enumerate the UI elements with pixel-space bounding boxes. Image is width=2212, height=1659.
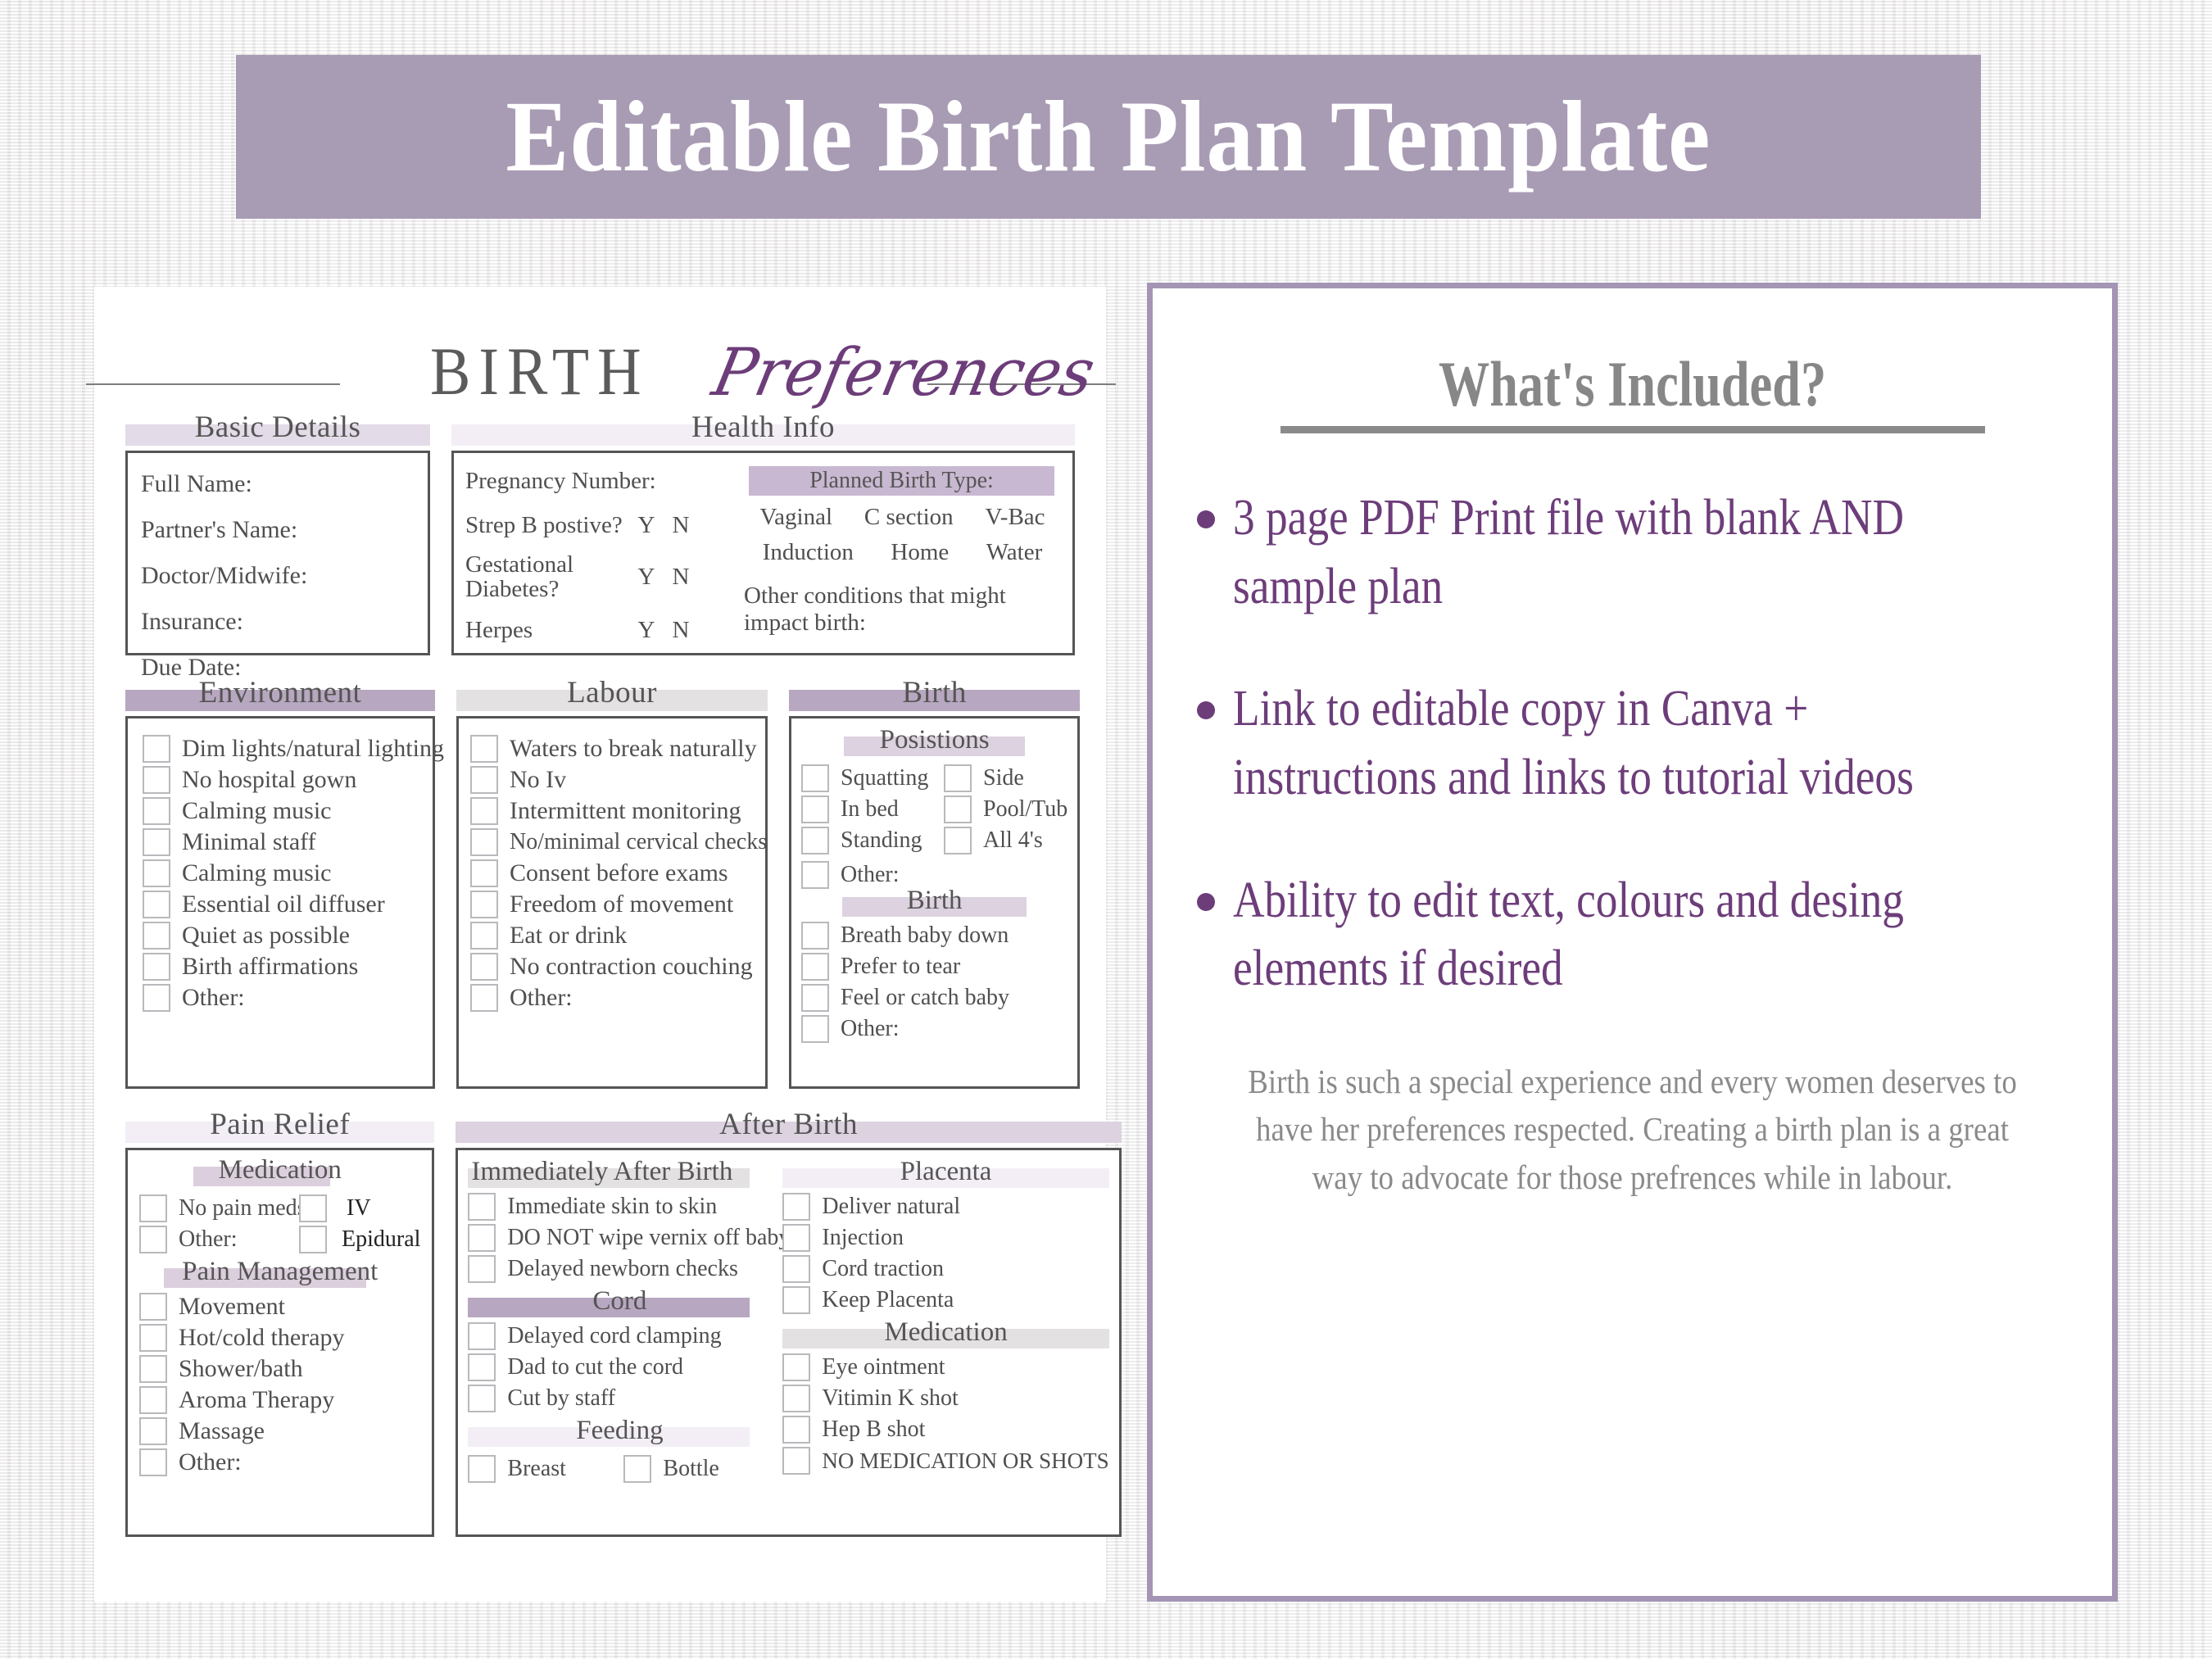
after-birth-heading: After Birth [456, 1107, 1121, 1143]
environment-heading-label: Environment [125, 675, 435, 710]
label-labour-other: Other: [510, 984, 573, 1012]
checkbox-row[interactable]: Other: [470, 984, 754, 1012]
basic-details-heading: Basic Details [125, 410, 430, 446]
pain-management-subheading: Pain Management [139, 1257, 420, 1290]
checkbox-row[interactable]: Birth affirmations [143, 953, 418, 981]
checkbox-breast[interactable] [468, 1455, 496, 1483]
herpes-label: Herpes [465, 617, 629, 644]
cord-subheading-label: Cord [468, 1286, 771, 1317]
checkbox-quiet-as-possible[interactable] [143, 922, 170, 950]
section-health-info: Health Info Pregnancy Number: Strep B po… [451, 410, 1075, 655]
checkbox-essential-oil-diffuser[interactable] [143, 891, 170, 918]
document-header: BIRTH Preferences [94, 287, 1106, 410]
herpes-yes[interactable]: Y [629, 617, 664, 644]
checkbox-row[interactable]: Bottle [623, 1455, 771, 1483]
checkbox-row[interactable]: Cord traction [782, 1255, 1108, 1283]
checkbox-prefer-to-tear[interactable] [801, 953, 829, 981]
checkbox-row[interactable]: Other: [801, 861, 1067, 889]
checkbox-cord-traction[interactable] [782, 1255, 810, 1283]
checkbox-pain-management-other[interactable] [139, 1448, 167, 1476]
label-cut-by-staff: Cut by staff [507, 1385, 615, 1412]
checkbox-feel-or-catch-baby[interactable] [801, 984, 829, 1012]
checkbox-no-minimal-cervical-checks[interactable] [470, 828, 498, 856]
whats-included-panel: What's Included? 3 page PDF Print file w… [1147, 283, 2118, 1602]
checkbox-medication-other[interactable] [139, 1226, 167, 1253]
checkbox-row[interactable]: Prefer to tear [801, 953, 1067, 981]
label-vitimin-k-shot: Vitimin K shot [822, 1385, 958, 1412]
checkbox-aroma-therapy[interactable] [139, 1386, 167, 1414]
medication-subheading-label: Medication [139, 1155, 420, 1185]
pain-relief-heading-label: Pain Relief [125, 1107, 434, 1142]
positions-subheading: Posistions [801, 725, 1067, 758]
checkbox-birth-affirmations[interactable] [143, 953, 170, 981]
checkbox-row[interactable]: Delayed newborn checks [468, 1255, 771, 1283]
gestational-diabetes-no[interactable]: N [664, 564, 698, 591]
checkbox-row[interactable]: Essential oil diffuser [143, 891, 418, 918]
checkbox-no-medication-or-shots[interactable] [782, 1447, 810, 1475]
labour-box: Waters to break naturally No Iv Intermit… [456, 716, 768, 1089]
checkbox-row[interactable]: Squatting [801, 764, 941, 792]
strep-b-label: Strep B postive? [465, 512, 629, 539]
after-birth-box: Immediately After Birth Immediate skin t… [456, 1148, 1121, 1537]
immediately-after-birth-subheading: Immediately After Birth [468, 1157, 771, 1190]
placenta-subheading-label: Placenta [782, 1157, 1108, 1187]
label-squatting: Squatting [841, 765, 928, 791]
health-info-heading: Health Info [451, 410, 1075, 446]
birth-subheading: Birth [801, 886, 1067, 918]
bullet-dot-icon [1197, 510, 1215, 528]
label-delayed-newborn-checks: Delayed newborn checks [507, 1256, 737, 1282]
checkbox-row[interactable]: Movement [139, 1293, 420, 1321]
label-calming-music-1: Calming music [182, 797, 332, 825]
checkbox-breath-baby-down[interactable] [801, 922, 829, 950]
checkbox-in-bed[interactable] [801, 796, 829, 823]
checkbox-freedom-of-movement[interactable] [470, 891, 498, 918]
section-birth: Birth Posistions Squatting In bed Standi… [789, 675, 1080, 1089]
label-keep-placenta: Keep Placenta [822, 1287, 954, 1313]
checkbox-shower-bath[interactable] [139, 1355, 167, 1383]
checkbox-standing[interactable] [801, 827, 829, 854]
list-item: Link to editable copy in Canva + instruc… [1197, 675, 2068, 812]
checkbox-labour-other[interactable] [470, 984, 498, 1012]
checkbox-row[interactable]: In bed [801, 796, 941, 823]
labour-heading: Labour [456, 675, 768, 711]
label-cord-traction: Cord traction [822, 1256, 944, 1282]
label-no-pain-meds: No pain meds [179, 1195, 306, 1222]
checkbox-delayed-cord-clamping[interactable] [468, 1322, 496, 1350]
checkbox-row[interactable]: Hot/cold therapy [139, 1324, 420, 1352]
label-no-medication-or-shots: NO MEDICATION OR SHOTS [822, 1448, 1108, 1474]
basic-details-box: Full Name: Partner's Name: Doctor/Midwif… [125, 451, 430, 655]
checkbox-row[interactable]: All 4's [944, 827, 1067, 854]
checkbox-row[interactable]: Vitimin K shot [782, 1385, 1108, 1412]
label-bottle: Bottle [663, 1456, 718, 1482]
health-info-heading-label: Health Info [451, 410, 1075, 445]
checkbox-dad-to-cut-the-cord[interactable] [468, 1353, 496, 1381]
label-birth-other: Other: [841, 1016, 900, 1042]
pain-relief-heading: Pain Relief [125, 1107, 434, 1143]
field-insurance[interactable]: Insurance: [141, 610, 415, 634]
field-partner-name[interactable]: Partner's Name: [141, 518, 415, 542]
label-immediate-skin-to-skin: Immediate skin to skin [507, 1194, 717, 1220]
checkbox-positions-other[interactable] [801, 861, 829, 889]
label-eat-or-drink: Eat or drink [510, 922, 627, 950]
page-title: Editable Birth Plan Template [506, 79, 1711, 195]
other-conditions-label[interactable]: Other conditions that might impact birth… [744, 582, 1014, 637]
birth-type-home[interactable]: Home [891, 539, 949, 566]
bullet-text-1: 3 page PDF Print file with blank AND sam… [1233, 484, 1951, 621]
birth-heading-label: Birth [789, 675, 1080, 710]
birth-type-vbac[interactable]: V-Bac [986, 504, 1045, 531]
checkbox-row[interactable]: Quiet as possible [143, 922, 418, 950]
basic-details-heading-label: Basic Details [125, 410, 430, 445]
pain-management-subheading-label: Pain Management [139, 1257, 420, 1287]
checkbox-calming-music-2[interactable] [143, 859, 170, 887]
checkbox-row[interactable]: Injection [782, 1224, 1108, 1252]
checkbox-row[interactable]: Other: [801, 1015, 1067, 1043]
checkbox-calming-music-1[interactable] [143, 797, 170, 825]
label-consent-before-exams: Consent before exams [510, 859, 728, 887]
label-birth-affirmations: Birth affirmations [182, 953, 358, 981]
label-all-4s: All 4's [983, 827, 1043, 854]
checkbox-pool-tub[interactable] [944, 796, 972, 823]
label-dad-to-cut-the-cord: Dad to cut the cord [507, 1354, 683, 1380]
checkbox-row[interactable]: Consent before exams [470, 859, 754, 887]
medication-subheading: Medication [139, 1155, 420, 1188]
field-full-name[interactable]: Full Name: [141, 472, 415, 496]
checkbox-row[interactable]: Calming music [143, 797, 418, 825]
label-calming-music-2: Calming music [182, 859, 332, 887]
label-hep-b-shot: Hep B shot [822, 1416, 925, 1443]
label-dim-lights: Dim lights/natural lighting [182, 735, 444, 763]
checkbox-row[interactable]: Dad to cut the cord [468, 1353, 771, 1381]
checkbox-row[interactable]: No hospital gown [143, 766, 418, 794]
label-do-not-wipe-vernix: DO NOT wipe vernix off baby [507, 1225, 790, 1251]
birth-box: Posistions Squatting In bed Standing Sid… [789, 716, 1080, 1089]
checkbox-hot-cold-therapy[interactable] [139, 1324, 167, 1352]
label-eye-ointment: Eye ointment [822, 1354, 945, 1380]
bullet-dot-icon [1197, 893, 1215, 911]
environment-heading: Environment [125, 675, 435, 711]
environment-box: Dim lights/natural lighting No hospital … [125, 716, 435, 1089]
checkbox-no-contraction-couching[interactable] [470, 953, 498, 981]
checkbox-intermittent-monitoring[interactable] [470, 797, 498, 825]
checkbox-minimal-staff[interactable] [143, 828, 170, 856]
label-hot-cold-therapy: Hot/cold therapy [179, 1324, 344, 1352]
herpes-no[interactable]: N [664, 617, 698, 644]
checkbox-row[interactable]: NO MEDICATION OR SHOTS [782, 1447, 1108, 1475]
list-item: Ability to edit text, colours and desing… [1197, 867, 2068, 1004]
strep-b-yes[interactable]: Y [629, 512, 664, 539]
checkbox-epidural[interactable] [299, 1226, 327, 1253]
planned-birth-type-heading: Planned Birth Type: [749, 466, 1054, 496]
pain-relief-box: Medication No pain meds Other: IV Epidur… [125, 1148, 434, 1537]
checkbox-no-hospital-gown[interactable] [143, 766, 170, 794]
immediately-after-birth-subheading-label: Immediately After Birth [468, 1157, 771, 1187]
label-medication-other: Other: [179, 1226, 238, 1253]
checkbox-row[interactable]: Waters to break naturally [470, 735, 754, 763]
checkbox-row[interactable]: Delayed cord clamping [468, 1322, 771, 1350]
health-info-box: Pregnancy Number: Strep B postive? Y N G… [451, 451, 1075, 655]
checkbox-row[interactable]: Breast [468, 1455, 623, 1483]
label-iv: IV [347, 1195, 371, 1222]
section-after-birth: After Birth Immediately After Birth Imme… [456, 1107, 1121, 1537]
label-side: Side [983, 765, 1024, 791]
checkbox-waters-break-naturally[interactable] [470, 735, 498, 763]
label-no-iv: No Iv [510, 766, 566, 794]
label-prefer-to-tear: Prefer to tear [841, 954, 960, 980]
after-birth-medication-subheading: Medication [782, 1317, 1108, 1350]
checkbox-row[interactable]: IV [299, 1194, 420, 1222]
label-aroma-therapy: Aroma Therapy [179, 1386, 334, 1414]
label-injection: Injection [822, 1225, 904, 1251]
checkbox-row[interactable]: Epidural [299, 1226, 420, 1253]
label-intermittent-monitoring: Intermittent monitoring [510, 797, 741, 825]
section-labour: Labour Waters to break naturally No Iv I… [456, 675, 768, 1089]
label-epidural: Epidural [342, 1226, 420, 1253]
checkbox-row[interactable]: Cut by staff [468, 1385, 771, 1412]
checkbox-all-4s[interactable] [944, 827, 972, 854]
document-title-main: BIRTH [430, 333, 650, 411]
label-quiet-as-possible: Quiet as possible [182, 922, 350, 950]
checkbox-row[interactable]: Dim lights/natural lighting [143, 735, 418, 763]
after-birth-medication-subheading-label: Medication [782, 1317, 1108, 1348]
checkbox-iv[interactable] [299, 1194, 327, 1222]
checkbox-row[interactable]: Other: [139, 1226, 299, 1253]
labour-heading-label: Labour [456, 675, 768, 710]
gestational-diabetes-yes[interactable]: Y [629, 564, 664, 591]
section-pain-relief: Pain Relief Medication No pain meds Othe… [125, 1107, 434, 1537]
checkbox-keep-placenta[interactable] [782, 1286, 810, 1314]
label-minimal-staff: Minimal staff [182, 828, 316, 856]
checkbox-row[interactable]: Shower/bath [139, 1355, 420, 1383]
birth-subheading-label: Birth [801, 886, 1067, 916]
section-environment: Environment Dim lights/natural lighting … [125, 675, 435, 1089]
label-breath-baby-down: Breath baby down [841, 922, 1009, 949]
checkbox-row[interactable]: No/minimal cervical checks [470, 828, 754, 856]
checkbox-row[interactable]: Minimal staff [143, 828, 418, 856]
section-basic-details: Basic Details Full Name: Partner's Name:… [125, 410, 430, 655]
checkbox-do-not-wipe-vernix[interactable] [468, 1224, 496, 1252]
birth-type-water[interactable]: Water [986, 539, 1043, 566]
checkbox-row[interactable]: Freedom of movement [470, 891, 754, 918]
positions-subheading-label: Posistions [801, 725, 1067, 755]
checkbox-massage[interactable] [139, 1417, 167, 1445]
checkbox-row[interactable]: Calming music [143, 859, 418, 887]
label-standing: Standing [841, 827, 922, 854]
checkbox-movement[interactable] [139, 1293, 167, 1321]
checkbox-bottle[interactable] [623, 1455, 651, 1483]
checkbox-row[interactable]: Eat or drink [470, 922, 754, 950]
checkbox-row[interactable]: Other: [143, 984, 418, 1012]
label-movement: Movement [179, 1293, 285, 1321]
cord-subheading: Cord [468, 1286, 771, 1319]
checkbox-row[interactable]: Eye ointment [782, 1353, 1108, 1381]
label-freedom-of-movement: Freedom of movement [510, 891, 733, 918]
checkbox-squatting[interactable] [801, 764, 829, 792]
field-doctor-midwife[interactable]: Doctor/Midwife: [141, 564, 415, 588]
checkbox-side[interactable] [944, 764, 972, 792]
checkbox-row[interactable]: Side [944, 764, 1067, 792]
checkbox-eye-ointment[interactable] [782, 1353, 810, 1381]
checkbox-hep-b-shot[interactable] [782, 1416, 810, 1444]
checkbox-eat-or-drink[interactable] [470, 922, 498, 950]
checkbox-immediate-skin-to-skin[interactable] [468, 1193, 496, 1221]
strep-b-no[interactable]: N [664, 512, 698, 539]
checkbox-injection[interactable] [782, 1224, 810, 1252]
birth-plan-document-card: BIRTH Preferences Basic Details Full Nam… [94, 287, 1106, 1602]
birth-type-c-section[interactable]: C section [864, 504, 954, 531]
label-waters-break-naturally: Waters to break naturally [510, 735, 757, 763]
checkbox-row[interactable]: Immediate skin to skin [468, 1193, 771, 1221]
checkbox-row[interactable]: No pain meds [139, 1194, 299, 1222]
whats-included-note: Birth is such a special experience and e… [1240, 1058, 2024, 1201]
label-in-bed: In bed [841, 796, 899, 823]
checkbox-row[interactable]: Aroma Therapy [139, 1386, 420, 1414]
bullet-text-3: Ability to edit text, colours and desing… [1233, 867, 1951, 1004]
label-pain-management-other: Other: [179, 1448, 242, 1476]
label-pool-tub: Pool/Tub [983, 796, 1067, 823]
placenta-subheading: Placenta [782, 1157, 1108, 1190]
bullet-text-2: Link to editable copy in Canva + instruc… [1233, 675, 1951, 812]
checkbox-no-pain-meds[interactable] [139, 1194, 167, 1222]
checkbox-delayed-newborn-checks[interactable] [468, 1255, 496, 1283]
whats-included-underline [1281, 426, 1985, 433]
checkbox-row[interactable]: No contraction couching [470, 953, 754, 981]
label-feel-or-catch-baby: Feel or catch baby [841, 985, 1009, 1011]
header-rule-left [86, 383, 340, 385]
checkbox-birth-other[interactable] [801, 1015, 829, 1043]
label-deliver-natural: Deliver natural [822, 1194, 960, 1220]
checkbox-consent-before-exams[interactable] [470, 859, 498, 887]
checkbox-deliver-natural[interactable] [782, 1193, 810, 1221]
label-massage: Massage [179, 1417, 265, 1445]
checkbox-row[interactable]: Keep Placenta [782, 1286, 1108, 1314]
after-birth-heading-label: After Birth [456, 1107, 1121, 1142]
label-no-minimal-cervical-checks: No/minimal cervical checks [510, 829, 767, 855]
label-essential-oil-diffuser: Essential oil diffuser [182, 891, 385, 918]
checkbox-row[interactable]: Hep B shot [782, 1416, 1108, 1444]
label-positions-other: Other: [841, 862, 900, 888]
checkbox-environment-other[interactable] [143, 984, 170, 1012]
checkbox-vitimin-k-shot[interactable] [782, 1385, 810, 1412]
document-title-script: Preferences [706, 334, 1101, 410]
label-no-contraction-couching: No contraction couching [510, 953, 753, 981]
checkbox-row[interactable]: Massage [139, 1417, 420, 1445]
feeding-subheading-label: Feeding [468, 1416, 771, 1446]
pregnancy-number-label[interactable]: Pregnancy Number: [465, 468, 736, 495]
gestational-diabetes-label: Gestational Diabetes? [465, 552, 629, 602]
checkbox-row[interactable]: Other: [139, 1448, 420, 1476]
label-shower-bath: Shower/bath [179, 1355, 303, 1383]
birth-type-induction[interactable]: Induction [763, 539, 854, 566]
birth-heading: Birth [789, 675, 1080, 711]
feeding-subheading: Feeding [468, 1416, 771, 1448]
list-item: 3 page PDF Print file with blank AND sam… [1197, 484, 2068, 621]
title-banner: Editable Birth Plan Template [236, 55, 1981, 219]
checkbox-row[interactable]: Feel or catch baby [801, 984, 1067, 1012]
label-delayed-cord-clamping: Delayed cord clamping [507, 1323, 721, 1349]
checkbox-row[interactable]: Breath baby down [801, 922, 1067, 950]
checkbox-row[interactable]: Intermittent monitoring [470, 797, 754, 825]
birth-type-vaginal[interactable]: Vaginal [759, 504, 832, 531]
checkbox-dim-lights[interactable] [143, 735, 170, 763]
label-no-hospital-gown: No hospital gown [182, 766, 356, 794]
checkbox-no-iv[interactable] [470, 766, 498, 794]
checkbox-cut-by-staff[interactable] [468, 1385, 496, 1412]
checkbox-row[interactable]: Pool/Tub [944, 796, 1067, 823]
checkbox-row[interactable]: No Iv [470, 766, 754, 794]
label-breast: Breast [507, 1456, 566, 1482]
whats-included-title: What's Included? [1284, 347, 1980, 421]
checkbox-row[interactable]: DO NOT wipe vernix off baby [468, 1224, 771, 1252]
checkbox-row[interactable]: Standing [801, 827, 941, 854]
checkbox-row[interactable]: Deliver natural [782, 1193, 1108, 1221]
bullet-dot-icon [1197, 701, 1215, 719]
label-environment-other: Other: [182, 984, 245, 1012]
